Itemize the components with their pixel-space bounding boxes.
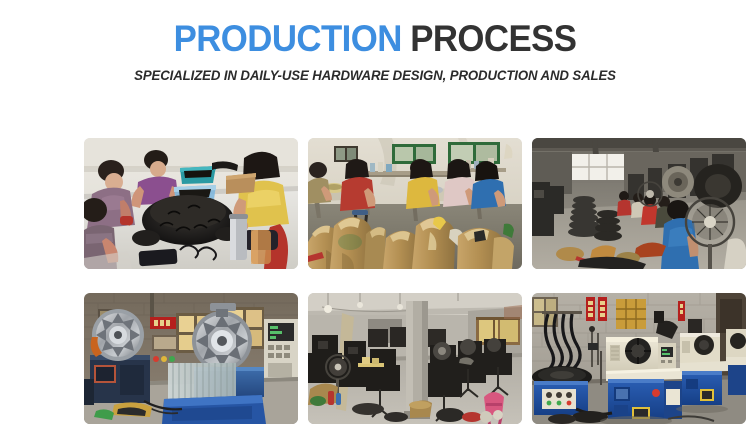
heading-block: PRODUCTIONPROCESS SPECIALIZED IN DAILY-U…	[0, 18, 750, 84]
gallery-photo-2	[308, 138, 522, 269]
photo-3-image	[532, 138, 746, 269]
photo-gallery-grid	[44, 122, 706, 408]
photo-1-image	[84, 138, 298, 269]
photo-4-image	[84, 293, 298, 424]
gallery-photo-5	[308, 293, 522, 424]
gallery-photo-4	[84, 293, 298, 424]
page-title: PRODUCTIONPROCESS	[23, 18, 728, 60]
page-title-dark-part: PROCESS	[410, 18, 576, 59]
photo-6-image	[532, 293, 746, 424]
production-process-banner: PRODUCTIONPROCESS SPECIALIZED IN DAILY-U…	[0, 0, 750, 430]
photo-2-image	[308, 138, 522, 269]
photo-5-image	[308, 293, 522, 424]
page-title-blue-part: PRODUCTION	[174, 18, 402, 59]
gallery-photo-6	[532, 293, 746, 424]
gallery-photo-3	[532, 138, 746, 269]
gallery-photo-1	[84, 138, 298, 269]
page-subtitle: SPECIALIZED IN DAILY-USE HARDWARE DESIGN…	[6, 68, 745, 84]
